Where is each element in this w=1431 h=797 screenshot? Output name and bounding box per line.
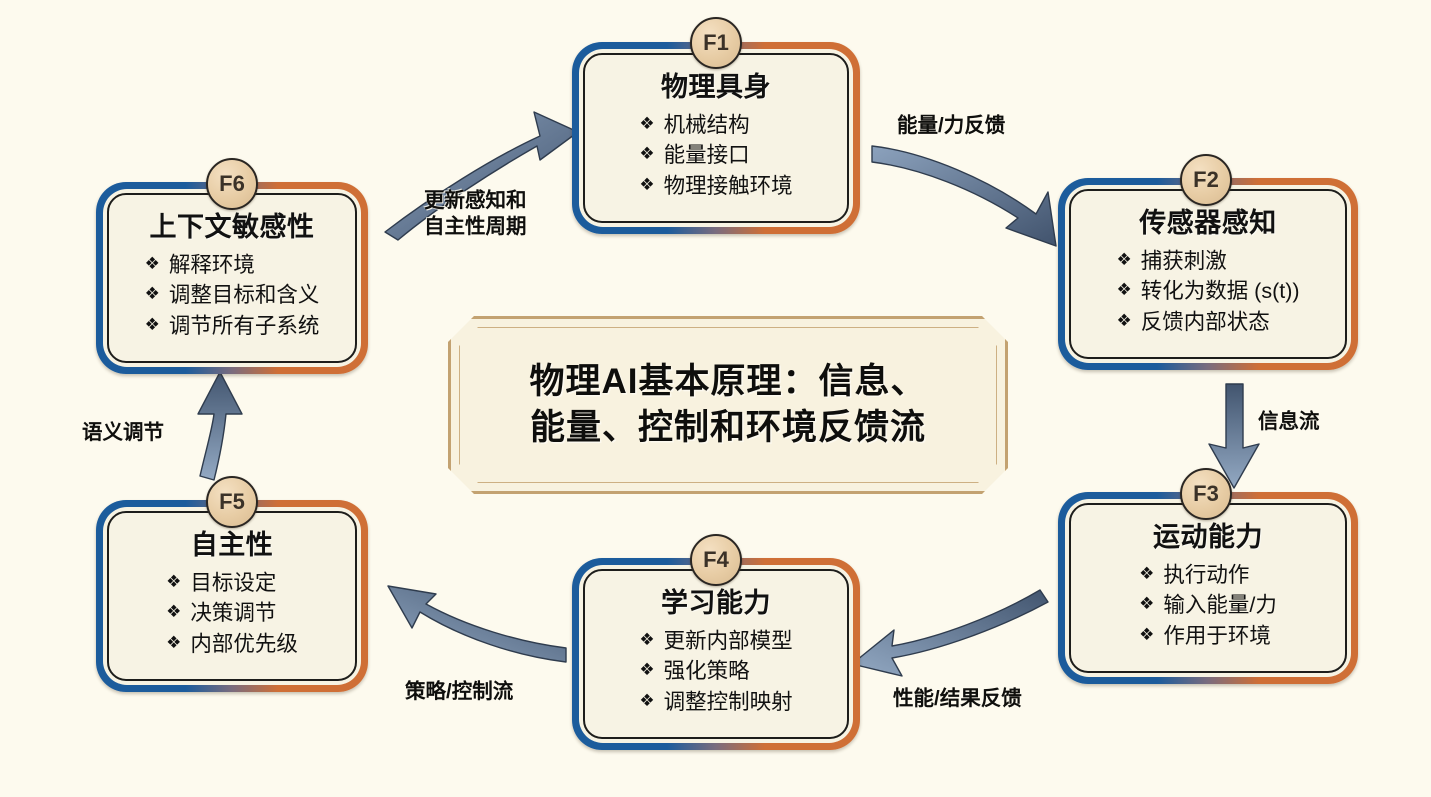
diagram-canvas: 物理具身 ❖机械结构 ❖能量接口 ❖物理接触环境 F1 传感器感知 ❖捕获刺激 … xyxy=(0,0,1431,797)
diamond-bullet-icon: ❖ xyxy=(166,629,181,658)
center-title-line-1: 物理AI基本原理：信息、 xyxy=(529,359,926,405)
node-bullet-list: ❖执行动作 ❖输入能量/力 ❖作用于环境 xyxy=(1139,560,1277,652)
node-card-f2[interactable]: 传感器感知 ❖捕获刺激 ❖转化为数据 (s(t)) ❖反馈内部状态 xyxy=(1058,178,1358,370)
diamond-bullet-icon: ❖ xyxy=(1116,307,1131,336)
list-item: ❖调整控制映射 xyxy=(639,687,792,718)
node-badge-f4[interactable]: F4 xyxy=(690,534,742,586)
node-card-f5[interactable]: 自主性 ❖目标设定 ❖决策调节 ❖内部优先级 xyxy=(96,500,368,692)
node-bullet-list: ❖解释环境 ❖调整目标和含义 ❖调节所有子系统 xyxy=(145,250,320,342)
list-item: ❖能量接口 xyxy=(639,140,792,171)
bullet-text: 解释环境 xyxy=(169,250,255,281)
diamond-bullet-icon: ❖ xyxy=(166,568,181,597)
bullet-text: 决策调节 xyxy=(190,598,276,629)
diamond-bullet-icon: ❖ xyxy=(145,280,160,309)
node-badge-f6[interactable]: F6 xyxy=(206,158,258,210)
list-item: ❖捕获刺激 xyxy=(1116,246,1299,277)
diamond-bullet-icon: ❖ xyxy=(1139,560,1154,589)
node-card-f6[interactable]: 上下文敏感性 ❖解释环境 ❖调整目标和含义 ❖调节所有子系统 xyxy=(96,182,368,374)
node-bullet-list: ❖更新内部模型 ❖强化策略 ❖调整控制映射 xyxy=(639,626,792,718)
node-title: 学习能力 xyxy=(661,589,771,619)
list-item: ❖内部优先级 xyxy=(166,629,298,660)
node-bullet-list: ❖捕获刺激 ❖转化为数据 (s(t)) ❖反馈内部状态 xyxy=(1116,246,1299,338)
list-item: ❖执行动作 xyxy=(1139,560,1277,591)
list-item: ❖输入能量/力 xyxy=(1139,590,1277,621)
node-badge-f2[interactable]: F2 xyxy=(1180,154,1232,206)
node-badge-f5[interactable]: F5 xyxy=(206,476,258,528)
diamond-bullet-icon: ❖ xyxy=(639,110,654,139)
node-badge-f1[interactable]: F1 xyxy=(690,17,742,69)
flow-label-f3-to-f4: 性能/结果反馈 xyxy=(893,686,1022,712)
bullet-text: 强化策略 xyxy=(664,656,750,687)
flow-label-f6-to-f1: 更新感知和 自主性周期 xyxy=(424,188,527,240)
node-title: 传感器感知 xyxy=(1139,209,1277,239)
diamond-bullet-icon: ❖ xyxy=(639,656,654,685)
bullet-text: 更新内部模型 xyxy=(664,626,793,657)
diamond-bullet-icon: ❖ xyxy=(145,250,160,279)
bullet-text: 调整控制映射 xyxy=(664,687,793,718)
bullet-text: 执行动作 xyxy=(1163,560,1249,591)
node-title: 自主性 xyxy=(191,531,274,561)
node-card-f4[interactable]: 学习能力 ❖更新内部模型 ❖强化策略 ❖调整控制映射 xyxy=(572,558,860,750)
diamond-bullet-icon: ❖ xyxy=(1139,590,1154,619)
list-item: ❖调整目标和含义 xyxy=(145,280,320,311)
bullet-text: 反馈内部状态 xyxy=(1141,307,1270,338)
list-item: ❖更新内部模型 xyxy=(639,626,792,657)
diamond-bullet-icon: ❖ xyxy=(639,171,654,200)
bullet-text: 捕获刺激 xyxy=(1141,246,1227,277)
flow-label-f1-to-f2: 能量/力反馈 xyxy=(897,113,1005,139)
bullet-text: 物理接触环境 xyxy=(664,171,793,202)
flow-label-f2-to-f3: 信息流 xyxy=(1258,409,1320,435)
bullet-text: 转化为数据 (s(t)) xyxy=(1141,276,1300,307)
bullet-text: 机械结构 xyxy=(664,110,750,141)
list-item: ❖决策调节 xyxy=(166,598,298,629)
card-body: 上下文敏感性 ❖解释环境 ❖调整目标和含义 ❖调节所有子系统 xyxy=(107,193,357,363)
list-item: ❖目标设定 xyxy=(166,568,298,599)
list-item: ❖转化为数据 (s(t)) xyxy=(1116,276,1299,307)
flow-label-f4-to-f5: 策略/控制流 xyxy=(405,679,513,705)
diamond-bullet-icon: ❖ xyxy=(639,140,654,169)
arrow-f1-to-f2 xyxy=(872,146,1056,246)
card-body: 物理具身 ❖机械结构 ❖能量接口 ❖物理接触环境 xyxy=(583,53,849,223)
bullet-text: 输入能量/力 xyxy=(1163,590,1276,621)
diamond-bullet-icon: ❖ xyxy=(1116,276,1131,305)
diamond-bullet-icon: ❖ xyxy=(1116,246,1131,275)
list-item: ❖作用于环境 xyxy=(1139,621,1277,652)
flow-label-f5-to-f6: 语义调节 xyxy=(82,420,164,446)
card-body: 自主性 ❖目标设定 ❖决策调节 ❖内部优先级 xyxy=(107,511,357,681)
bullet-text: 能量接口 xyxy=(664,140,750,171)
diamond-bullet-icon: ❖ xyxy=(639,687,654,716)
node-card-f3[interactable]: 运动能力 ❖执行动作 ❖输入能量/力 ❖作用于环境 xyxy=(1058,492,1358,684)
list-item: ❖物理接触环境 xyxy=(639,171,792,202)
card-body: 传感器感知 ❖捕获刺激 ❖转化为数据 (s(t)) ❖反馈内部状态 xyxy=(1069,189,1347,359)
node-bullet-list: ❖目标设定 ❖决策调节 ❖内部优先级 xyxy=(166,568,298,660)
card-body: 运动能力 ❖执行动作 ❖输入能量/力 ❖作用于环境 xyxy=(1069,503,1347,673)
diamond-bullet-icon: ❖ xyxy=(145,311,160,340)
list-item: ❖反馈内部状态 xyxy=(1116,307,1299,338)
list-item: ❖解释环境 xyxy=(145,250,320,281)
node-bullet-list: ❖机械结构 ❖能量接口 ❖物理接触环境 xyxy=(639,110,792,202)
list-item: ❖机械结构 xyxy=(639,110,792,141)
node-title: 物理具身 xyxy=(661,73,771,103)
center-title: 物理AI基本原理：信息、 能量、控制和环境反馈流 xyxy=(448,316,1008,494)
bullet-text: 目标设定 xyxy=(190,568,276,599)
bullet-text: 调整目标和含义 xyxy=(169,280,320,311)
center-title-line-2: 能量、控制和环境反馈流 xyxy=(530,405,926,451)
arrow-f5-to-f6 xyxy=(198,372,242,480)
bullet-text: 调节所有子系统 xyxy=(169,311,320,342)
list-item: ❖强化策略 xyxy=(639,656,792,687)
center-title-plaque: 物理AI基本原理：信息、 能量、控制和环境反馈流 xyxy=(448,316,1008,494)
node-badge-f3[interactable]: F3 xyxy=(1180,468,1232,520)
card-body: 学习能力 ❖更新内部模型 ❖强化策略 ❖调整控制映射 xyxy=(583,569,849,739)
arrow-f4-to-f5 xyxy=(388,586,566,662)
bullet-text: 作用于环境 xyxy=(1163,621,1271,652)
node-title: 上下文敏感性 xyxy=(150,213,315,243)
list-item: ❖调节所有子系统 xyxy=(145,311,320,342)
arrow-f3-to-f4 xyxy=(852,590,1048,676)
node-title: 运动能力 xyxy=(1153,523,1263,553)
diamond-bullet-icon: ❖ xyxy=(639,626,654,655)
bullet-text: 内部优先级 xyxy=(190,629,298,660)
diamond-bullet-icon: ❖ xyxy=(1139,621,1154,650)
node-card-f1[interactable]: 物理具身 ❖机械结构 ❖能量接口 ❖物理接触环境 xyxy=(572,42,860,234)
diamond-bullet-icon: ❖ xyxy=(166,598,181,627)
